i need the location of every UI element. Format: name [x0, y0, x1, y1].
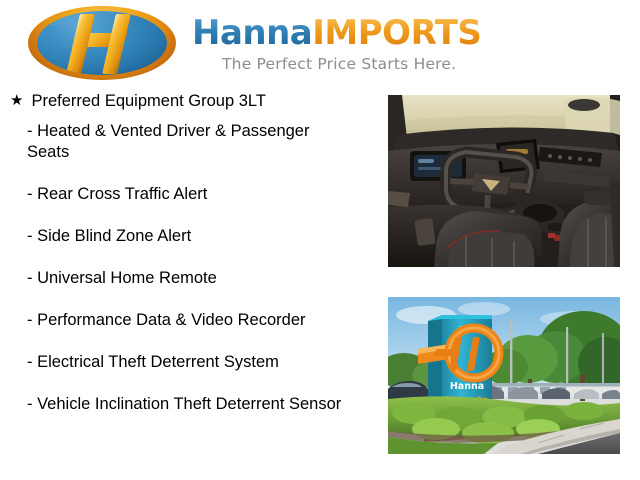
dealership-exterior-photo[interactable]: 2101 Hanna Imports: [388, 297, 620, 454]
sign-text-hanna: Hanna: [450, 381, 484, 392]
vehicle-interior-photo[interactable]: [388, 95, 620, 267]
list-item: - Heated & Vented Driver & Passenger Sea…: [0, 121, 382, 163]
list-item: - Rear Cross Traffic Alert: [0, 184, 382, 205]
list-item: - Vehicle Inclination Theft Deterrent Se…: [0, 394, 382, 415]
list-item: - Side Blind Zone Alert: [0, 226, 382, 247]
feature-list-heading: ★ Preferred Equipment Group 3LT: [0, 90, 382, 112]
feature-list: ★ Preferred Equipment Group 3LT - Heated…: [0, 90, 382, 415]
page-title: Preferred Equipment Group 3LT: [31, 90, 265, 112]
list-item: - Electrical Theft Deterrent System: [0, 352, 382, 373]
brand-logo-lockup[interactable]: HannaIMPORTS The Perfect Price Starts He…: [28, 6, 481, 80]
wordmark-hanna: Hanna: [192, 13, 312, 53]
wordmark-block: HannaIMPORTS The Perfect Price Starts He…: [192, 14, 481, 73]
brand-header: HannaIMPORTS The Perfect Price Starts He…: [0, 0, 640, 88]
list-item: - Performance Data & Video Recorder: [0, 310, 382, 331]
list-item: - Universal Home Remote: [0, 268, 382, 289]
emblem-face: [37, 11, 167, 75]
vehicle-feature-slide: HannaIMPORTS The Perfect Price Starts He…: [0, 0, 640, 480]
brand-wordmark: HannaIMPORTS: [192, 16, 481, 50]
star-icon: ★: [10, 90, 23, 112]
brand-tagline: The Perfect Price Starts Here.: [222, 55, 481, 73]
wordmark-imports: IMPORTS: [312, 13, 481, 53]
hanna-h-oval-emblem-icon: [28, 6, 176, 80]
